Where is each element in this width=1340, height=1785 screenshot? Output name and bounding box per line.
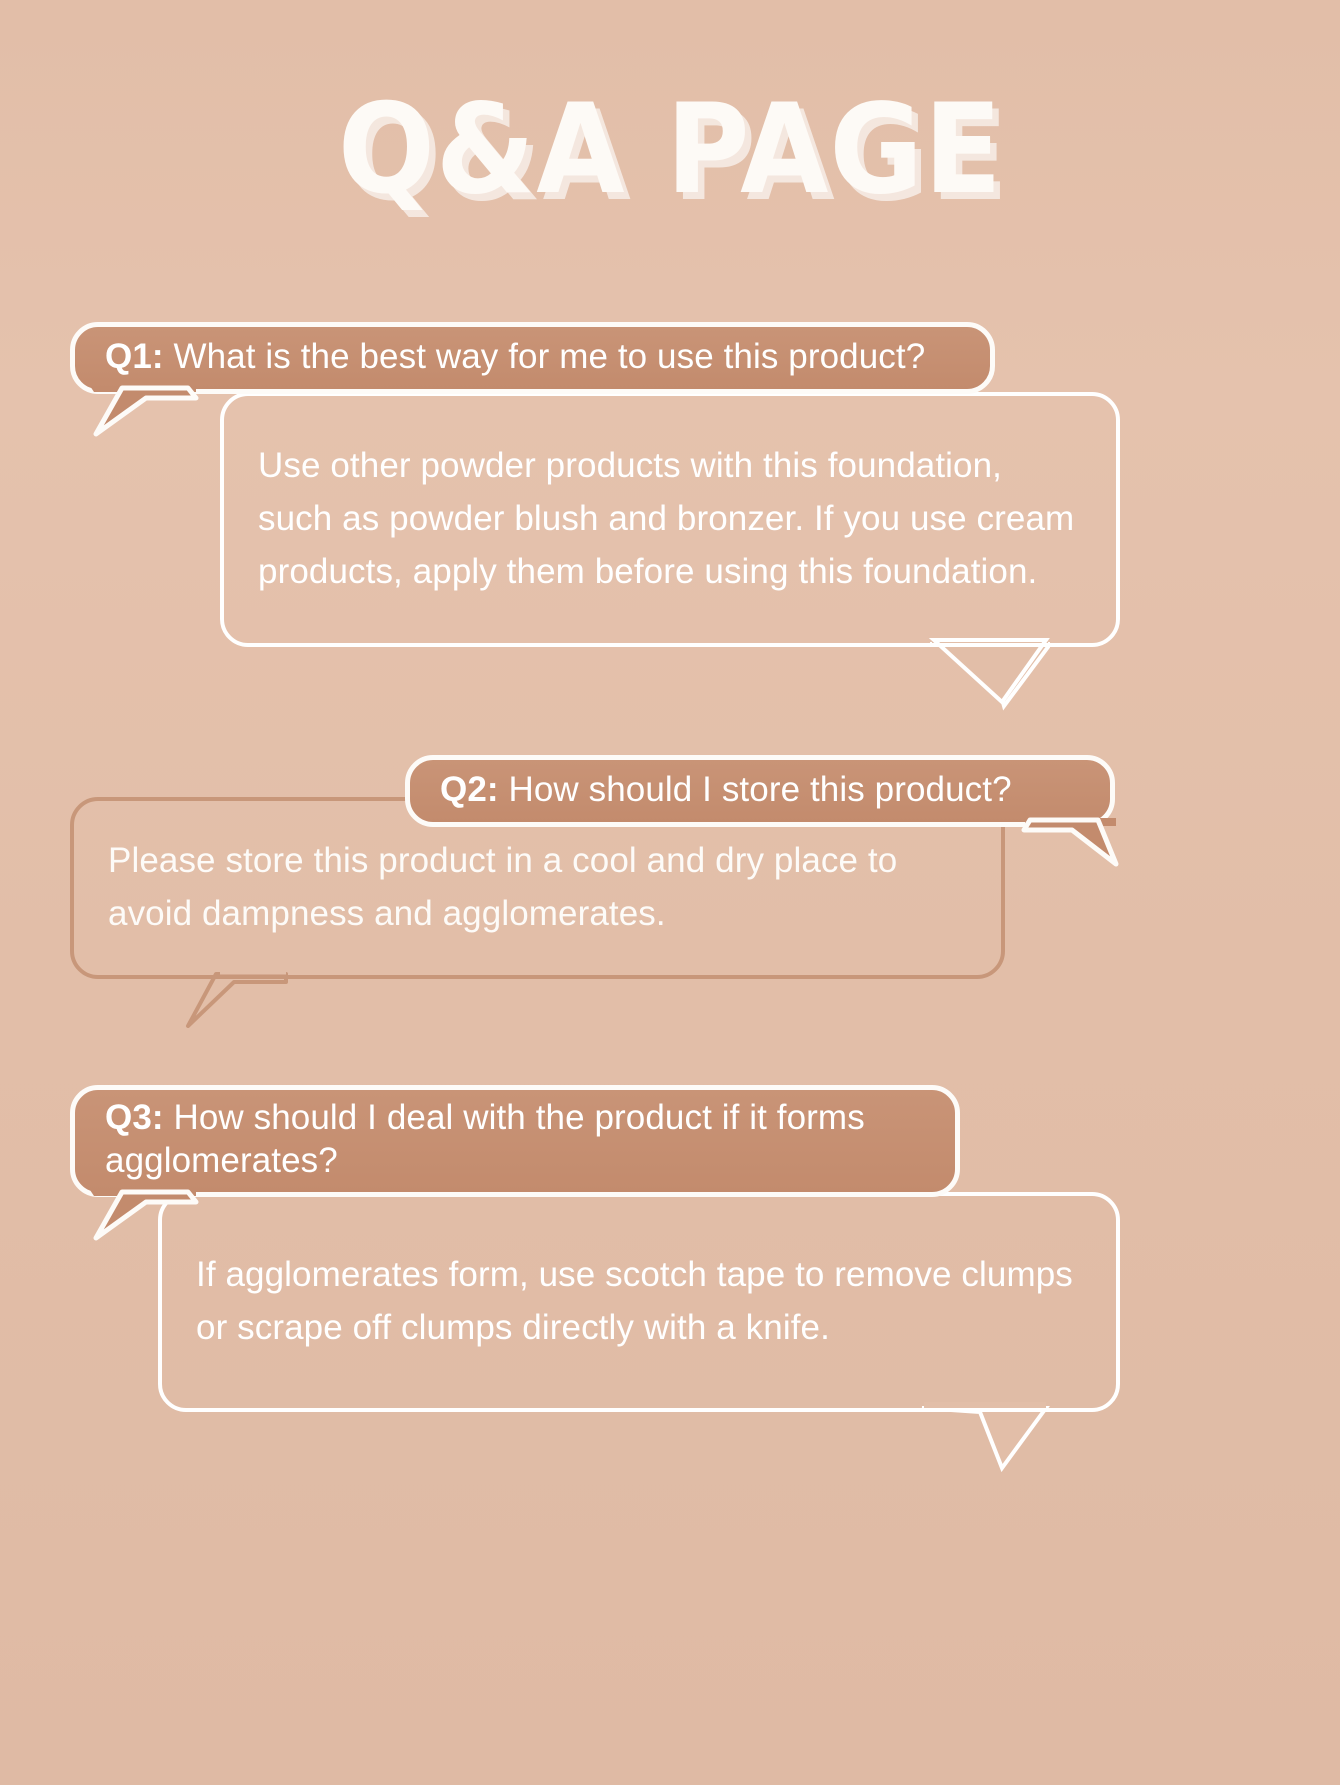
question-tail-2 xyxy=(1020,818,1130,878)
question-body-3: How should I deal with the product if it… xyxy=(105,1098,865,1180)
answer-tail-2 xyxy=(160,972,290,1042)
page-title-wrapper: Q&A PAGE xyxy=(0,88,1340,212)
question-label-1: Q1: xyxy=(105,337,164,376)
question-bubble-3[interactable]: Q3: How should I deal with the product i… xyxy=(70,1085,960,1197)
question-body-2: How should I store this product? xyxy=(508,770,1011,809)
answer-text-1: Use other powder products with this foun… xyxy=(258,439,1082,599)
answer-tail-1 xyxy=(930,640,1050,710)
page-title: Q&A PAGE xyxy=(338,88,1003,212)
answer-bubble-3: If agglomerates form, use scotch tape to… xyxy=(158,1192,1120,1412)
question-label-3: Q3: xyxy=(105,1098,164,1137)
question-text-2: Q2: How should I store this product? xyxy=(440,769,1080,812)
qa-page: Q&A PAGE Use other powder products with … xyxy=(0,0,1340,1785)
question-tail-1 xyxy=(88,386,208,446)
answer-tail-3 xyxy=(920,1404,1050,1474)
question-text-1: Q1: What is the best way for me to use t… xyxy=(105,336,960,379)
answer-bubble-1: Use other powder products with this foun… xyxy=(220,392,1120,647)
question-text-3: Q3: How should I deal with the product i… xyxy=(105,1097,925,1182)
answer-text-3: If agglomerates form, use scotch tape to… xyxy=(196,1248,1082,1354)
question-bubble-1[interactable]: Q1: What is the best way for me to use t… xyxy=(70,322,995,394)
question-label-2: Q2: xyxy=(440,770,499,809)
question-bubble-2[interactable]: Q2: How should I store this product? xyxy=(405,755,1115,827)
question-body-1: What is the best way for me to use this … xyxy=(173,337,925,376)
answer-text-2: Please store this product in a cool and … xyxy=(108,834,967,940)
